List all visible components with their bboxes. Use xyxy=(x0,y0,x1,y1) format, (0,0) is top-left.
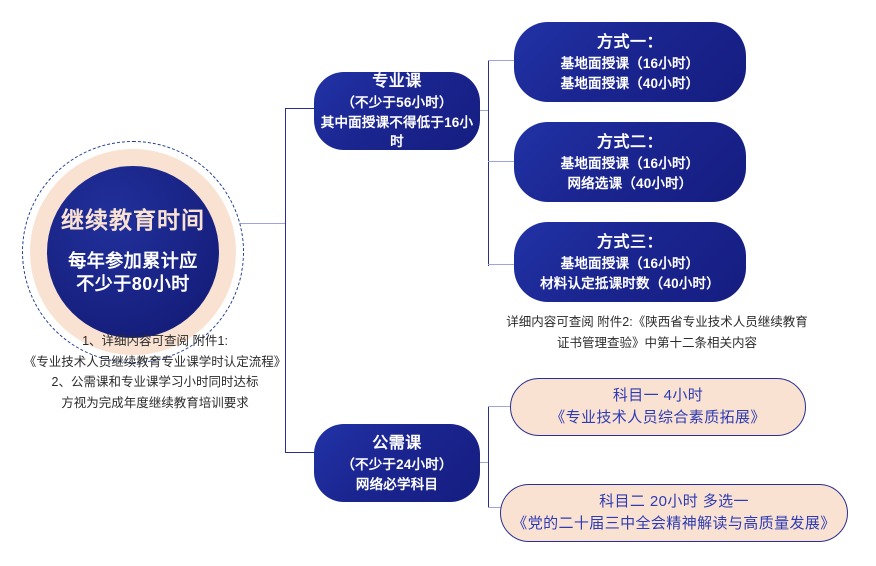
method-2-line-2: 网络选课（40小时） xyxy=(567,174,692,194)
connector-subjects-trunk xyxy=(488,406,489,508)
method-3-line-2: 材料认定抵课时数（40小时） xyxy=(540,274,720,294)
node-major-course[interactable]: 专业课 （不少于56小时） 其中面授课不得低于16小时 xyxy=(314,72,480,150)
connector-to-major-course xyxy=(285,108,315,109)
note-general-requirements: 1、详细内容可查阅 附件1: 《专业技术人员继续教育专业课学时认定流程》 2、公… xyxy=(10,331,300,414)
node-subject-2[interactable]: 科目二 20小时 多选一 《党的二十届三中全会精神解读与高质量发展》 xyxy=(500,484,848,542)
connector-to-method-1 xyxy=(488,60,516,61)
note-left-line-2: 《专业技术人员继续教育专业课学时认定流程》 xyxy=(10,352,300,373)
note-right-line-1: 详细内容可查阅 附件2:《陕西省专业技术人员继续教育 xyxy=(462,312,852,333)
major-course-title: 专业课 xyxy=(372,70,422,93)
connector-to-method-3 xyxy=(488,264,516,265)
subject-1-line-1: 科目一 4小时 xyxy=(613,385,703,408)
note-left-line-3: 2、公需课和专业课学习小时同时达标 xyxy=(10,372,300,393)
center-title: 继续教育时间 xyxy=(61,208,205,233)
connector-to-public-course xyxy=(285,452,315,453)
connector-center-stub xyxy=(240,223,286,224)
node-method-3[interactable]: 方式三： 基地面授课（16小时） 材料认定抵课时数（40小时） xyxy=(514,222,746,302)
center-subtitle-line-2: 不少于80小时 xyxy=(68,273,198,296)
public-course-title: 公需课 xyxy=(372,432,422,455)
node-method-2[interactable]: 方式二： 基地面授课（16小时） 网络选课（40小时） xyxy=(514,122,746,202)
public-course-line-1: （不少于24小时） xyxy=(341,455,452,475)
connector-methods-trunk xyxy=(488,60,489,266)
method-1-title: 方式一： xyxy=(597,31,663,54)
note-left-line-1: 1、详细内容可查阅 附件1: xyxy=(10,331,300,352)
center-subtitle-line-1: 每年参加累计应 xyxy=(68,250,198,273)
node-subject-1[interactable]: 科目一 4小时 《专业技术人员综合素质拓展》 xyxy=(510,378,806,436)
major-course-line-2: 其中面授课不得低于16小时 xyxy=(314,113,480,152)
note-left-line-4: 方视为完成年度继续教育培训要求 xyxy=(10,393,300,414)
diagram-canvas: 继续教育时间 每年参加累计应 不少于80小时 专业课 （不少于56小时） 其中面… xyxy=(0,0,876,566)
major-course-line-1: （不少于56小时） xyxy=(341,93,452,113)
method-1-line-2: 基地面授课（40小时） xyxy=(561,74,700,94)
node-method-1[interactable]: 方式一： 基地面授课（16小时） 基地面授课（40小时） xyxy=(514,22,746,102)
center-node-continuing-education[interactable]: 继续教育时间 每年参加累计应 不少于80小时 xyxy=(47,166,219,338)
public-course-line-2: 网络必学科目 xyxy=(356,475,438,495)
method-3-line-1: 基地面授课（16小时） xyxy=(561,254,700,274)
method-2-line-1: 基地面授课（16小时） xyxy=(561,154,700,174)
center-subtitle: 每年参加累计应 不少于80小时 xyxy=(68,250,198,296)
method-1-line-1: 基地面授课（16小时） xyxy=(561,54,700,74)
connector-to-method-2 xyxy=(488,161,516,162)
method-3-title: 方式三： xyxy=(597,231,663,254)
subject-2-line-1: 科目二 20小时 多选一 xyxy=(599,491,749,514)
node-public-course[interactable]: 公需课 （不少于24小时） 网络必学科目 xyxy=(314,424,480,502)
note-right-line-2: 证书管理查验》中第十二条相关内容 xyxy=(462,333,852,354)
subject-2-line-2: 《党的二十届三中全会精神解读与高质量发展》 xyxy=(512,513,835,536)
method-2-title: 方式二： xyxy=(597,131,663,154)
note-major-course: 详细内容可查阅 附件2:《陕西省专业技术人员继续教育 证书管理查验》中第十二条相… xyxy=(462,312,852,353)
subject-1-line-2: 《专业技术人员综合素质拓展》 xyxy=(550,407,766,430)
